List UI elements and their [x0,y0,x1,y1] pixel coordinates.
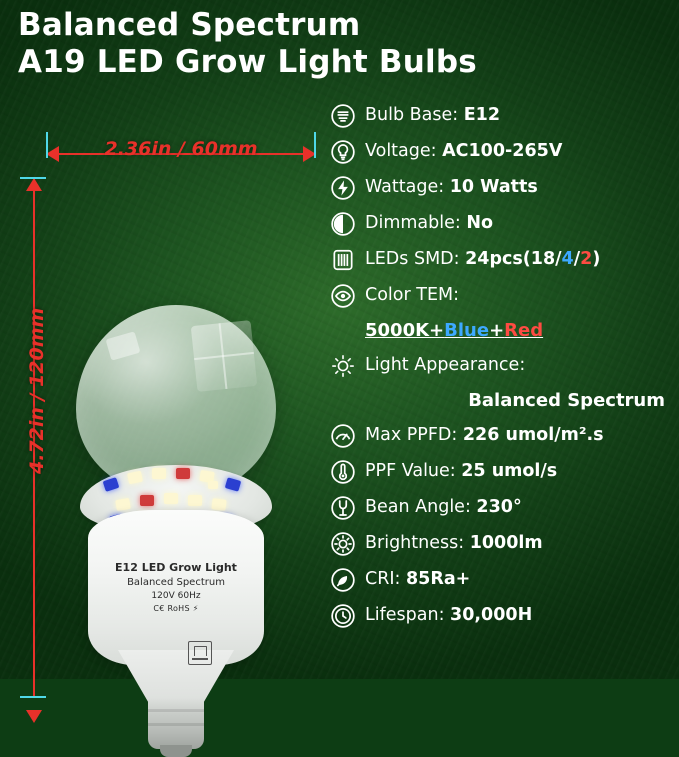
led-white [127,471,143,485]
leds-smd-icon [330,247,356,273]
spec-label-color-tem: Color TEM: [365,285,459,305]
spec-subvalue-light-appearance: Balanced Spectrum [330,388,665,414]
spec-text-beam-angle: Bean Angle: 230° [365,494,522,520]
spec-row-wattage: Wattage: 10 Watts [330,174,675,204]
spec-row-leds-smd: LEDs SMD: 24pcs(18/4/2) [330,246,675,276]
spec-label-lifespan: Lifespan: [365,605,450,625]
bulb-base-icon [330,103,356,129]
spec-text-light-appearance: Light Appearance: [365,352,525,378]
spec-subvalue-color-tem: 5000K+Blue+Red [365,318,675,344]
spec-text-lifespan: Lifespan: 30,000H [365,602,532,628]
voltage-bulb-icon [330,139,356,165]
spec-text-voltage: Voltage: AC100-265V [365,138,562,164]
text-run: 5000K+ [365,320,444,341]
spec-text-bulb-base: Bulb Base: E12 [365,102,500,128]
spec-label-brightness: Brightness: [365,533,470,553]
led-white [188,495,202,506]
spec-row-cri: CRI: 85Ra+ [330,566,675,596]
spec-value-bulb-base: E12 [464,105,500,125]
bulb-label-line-1: E12 LED Grow Light [102,560,250,576]
text-run: ) [592,249,600,269]
spec-label-wattage: Wattage: [365,177,450,197]
spec-value-wattage: 10 Watts [450,177,538,197]
text-run: 4 [562,249,574,269]
globe-highlight-small [106,331,141,360]
led-red [176,468,190,479]
led-white [208,481,218,489]
spec-value-max-ppfd: 226 umol/m².s [463,425,604,445]
text-run: Blue [444,320,489,341]
spec-text-wattage: Wattage: 10 Watts [365,174,538,200]
page-title: Balanced Spectrum A19 LED Grow Light Bul… [18,8,658,79]
spec-row-voltage: Voltage: AC100-265V [330,138,675,168]
spec-text-leds-smd: LEDs SMD: 24pcs(18/4/2) [365,246,600,272]
bulb-screw-base [148,697,204,749]
spec-label-ppf-value: PPF Value: [365,461,461,481]
title-line-2: A19 LED Grow Light Bulbs [18,45,658,80]
dimmable-moon-icon [330,211,356,237]
bulb-base-tip [160,745,192,757]
height-tick-top [20,177,46,179]
bulb-printed-label: E12 LED Grow Light Balanced Spectrum 120… [102,560,250,615]
spec-label-voltage: Voltage: [365,141,442,161]
height-tick-bottom [20,696,46,698]
spec-row-max-ppfd: Max PPFD: 226 umol/m².s [330,422,675,452]
spec-label-cri: CRI: [365,569,406,589]
led-white [164,493,178,504]
spec-label-beam-angle: Bean Angle: [365,497,476,517]
arrow-up-icon [26,178,42,191]
spec-text-max-ppfd: Max PPFD: 226 umol/m².s [365,422,604,448]
led-blue [225,477,241,491]
spec-text-brightness: Brightness: 1000lm [365,530,543,556]
wattage-bolt-icon [330,175,356,201]
bulb-taper [118,650,234,702]
spec-value-voltage: AC100-265V [442,141,562,161]
led-white [152,468,166,479]
spec-label-bulb-base: Bulb Base: [365,105,464,125]
spec-value-beam-angle: 230° [476,497,521,517]
spec-text-ppf-value: PPF Value: 25 umol/s [365,458,557,484]
spec-list: Bulb Base: E12 Voltage: AC100-265V Wa [330,102,675,638]
width-dimension: 2.36in / 60mm [46,142,316,164]
product-image-panel: 2.36in / 60mm 4.72in / 120mm [8,120,323,665]
max-ppfd-gauge-icon [330,423,356,449]
title-line-1: Balanced Spectrum [18,8,658,43]
spec-value-brightness: 1000lm [470,533,543,553]
led-white [115,498,131,511]
spec-label-leds-smd: LEDs SMD: [365,249,465,269]
spec-value-lifespan: 30,000H [450,605,532,625]
ppf-thermometer-icon [330,459,356,485]
brightness-sun-icon [330,531,356,557]
text-run: 2 [580,249,592,269]
bulb-illustration: E12 LED Grow Light Balanced Spectrum 120… [66,305,286,755]
spec-text-color-tem: Color TEM: [365,282,459,308]
text-run: Red [504,320,543,341]
spec-row-lifespan: Lifespan: 30,000H [330,602,675,632]
lifespan-clock-icon [330,603,356,629]
led-red [140,495,154,506]
color-tem-eye-icon [330,283,356,309]
text-run: 24pcs(18/ [465,249,561,269]
spec-row-color-tem: Color TEM: [330,282,675,312]
spec-row-beam-angle: Bean Angle: 230° [330,494,675,524]
width-tick-right [314,132,316,158]
spec-row-brightness: Brightness: 1000lm [330,530,675,560]
led-white [211,498,226,511]
spec-row-light-appearance: Light Appearance: [330,352,675,382]
spec-label-dimmable: Dimmable: [365,213,466,233]
waste-bin-icon [188,641,212,665]
spec-value-leds-smd: 24pcs(18/4/2) [465,249,600,269]
spec-row-ppf-value: PPF Value: 25 umol/s [330,458,675,488]
spec-text-dimmable: Dimmable: No [365,210,493,236]
beam-angle-icon [330,495,356,521]
bulb-label-line-3: 120V 60Hz [102,590,250,603]
text-run: + [489,320,504,341]
light-appearance-icon [330,353,356,379]
spec-value-dimmable: No [466,213,493,233]
poster-root: Balanced Spectrum A19 LED Grow Light Bul… [0,0,679,679]
spec-text-cri: CRI: 85Ra+ [365,566,470,592]
arrow-down-icon [26,710,42,723]
globe-highlight-window [191,320,258,392]
height-dimension-label: 4.72in / 120mm [26,324,48,474]
spec-label-max-ppfd: Max PPFD: [365,425,463,445]
cri-leaf-icon [330,567,356,593]
height-dimension: 4.72in / 120mm [22,178,44,723]
width-tick-left [46,132,48,158]
bulb-label-line-2: Balanced Spectrum [102,576,250,591]
width-dimension-label: 2.36in / 60mm [98,138,263,160]
led-blue [103,477,120,492]
bulb-label-line-4: C€ RoHS ⚡ [102,603,250,615]
spec-row-dimmable: Dimmable: No [330,210,675,240]
spec-row-bulb-base: Bulb Base: E12 [330,102,675,132]
spec-label-light-appearance: Light Appearance: [365,355,525,375]
spec-value-cri: 85Ra+ [406,569,470,589]
spec-value-ppf-value: 25 umol/s [461,461,557,481]
